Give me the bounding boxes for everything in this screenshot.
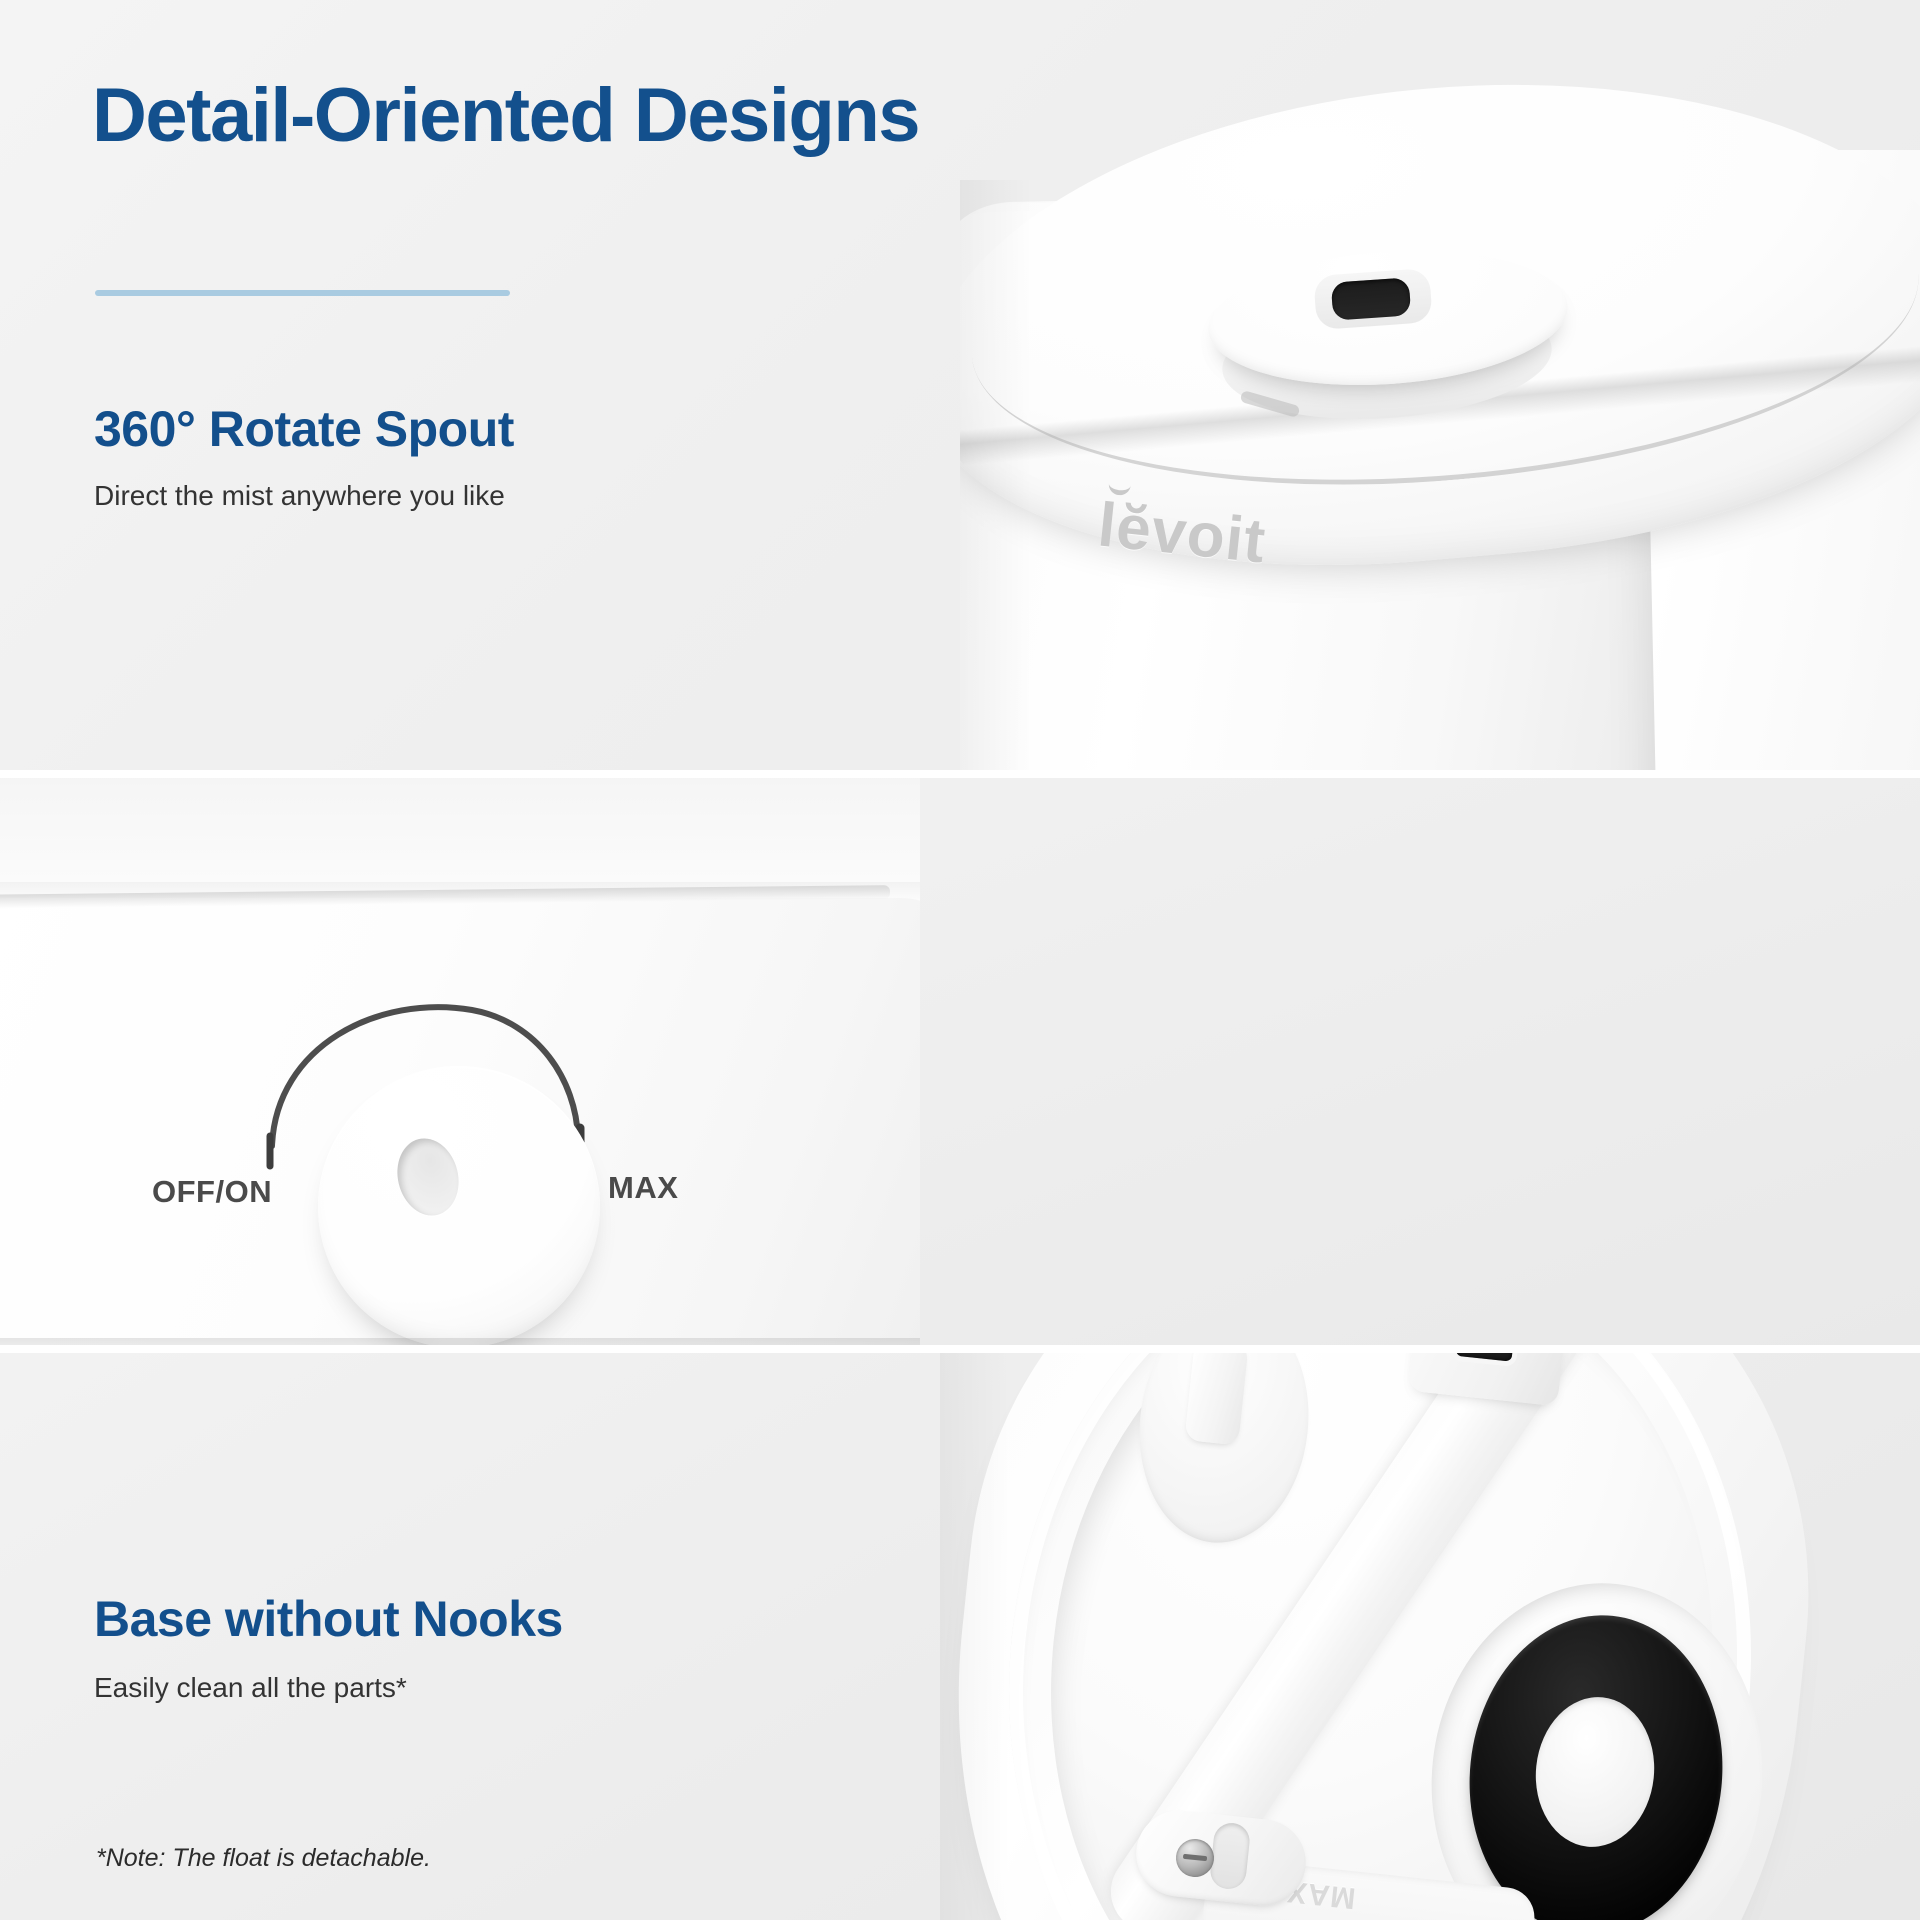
page-title: Detail-Oriented Designs — [92, 72, 919, 159]
dial-max-label: MAX — [608, 1170, 678, 1205]
photo-edge-shadow — [940, 1353, 1010, 1920]
base-bottom-shadow — [0, 1338, 920, 1345]
section-divider-gap-1 — [0, 770, 1920, 778]
feature-text-rotate-spout: 360° Rotate Spout Direct the mist anywhe… — [94, 400, 514, 512]
dial-max-label-wrap: MAX — [608, 1170, 678, 1206]
section-divider-gap-2 — [0, 1345, 1920, 1353]
title-divider — [95, 290, 510, 296]
feature-text-base-without-nooks: Base without Nooks Easily clean all the … — [94, 1590, 563, 1704]
footnote-note: *Note: The float is detachable. — [96, 1844, 431, 1873]
feature-subtitle: Easily clean all the parts* — [94, 1672, 563, 1704]
mist-vent-opening — [1331, 277, 1411, 320]
rotary-knob[interactable] — [318, 1066, 600, 1345]
feature-heading: 360° Rotate Spout — [94, 400, 514, 458]
photo-edge-shadow — [960, 180, 1032, 770]
humidifier-top-spout-photo: lĕvoit — [960, 0, 1920, 770]
dial-knob-panel-photo: OFF/ON MAX — [0, 778, 920, 1345]
base-interior-photo: MAX — [940, 1353, 1920, 1920]
dial-off-on-label: OFF/ON — [152, 1174, 272, 1209]
section-rotate-spout: lĕvoit Detail-Oriented Designs 360° Rota… — [0, 0, 1920, 770]
feature-subtitle: Direct the mist anywhere you like — [94, 480, 514, 512]
infographic-page: lĕvoit Detail-Oriented Designs 360° Rota… — [0, 0, 1920, 1920]
feature-heading: Base without Nooks — [94, 1590, 563, 1648]
logo-letters-voit: voit — [1148, 496, 1269, 577]
dial-min-label-wrap: OFF/ON — [152, 1174, 272, 1210]
